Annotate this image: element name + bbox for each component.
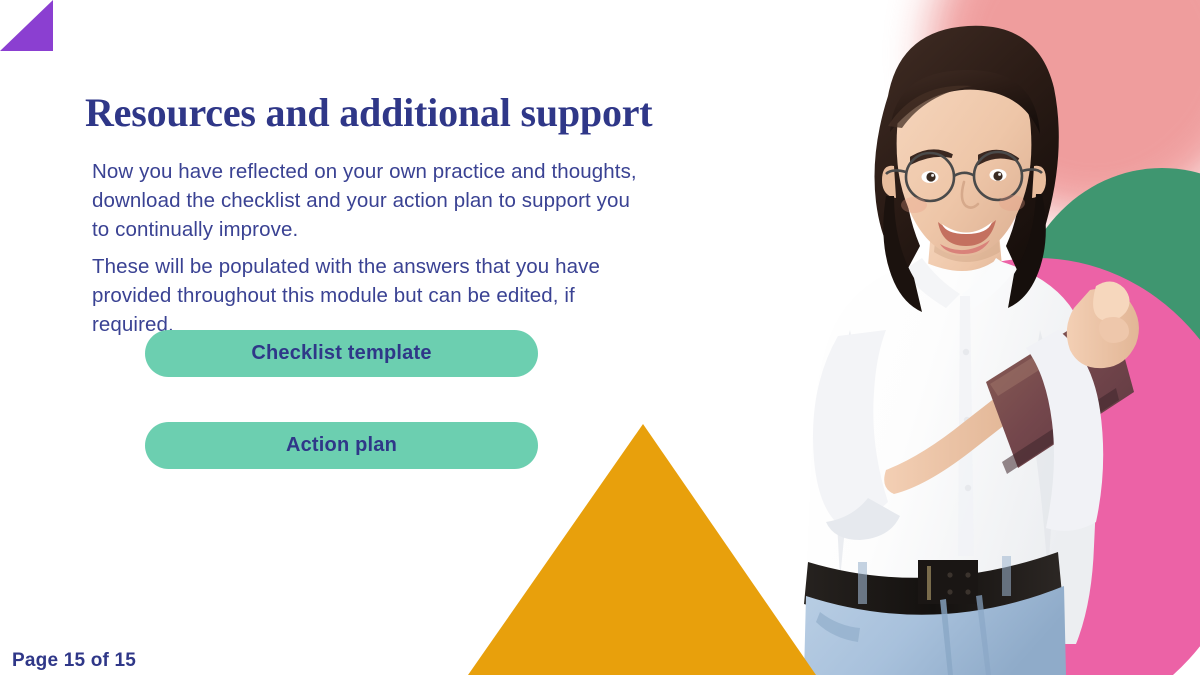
prefilled-note-paragraph: These will be populated with the answers… bbox=[92, 252, 652, 339]
presenter-photo-illustration bbox=[790, 0, 1200, 675]
page-indicator: Page 15 of 15 bbox=[12, 650, 136, 672]
checklist-template-button[interactable]: Checklist template bbox=[145, 330, 538, 377]
action-plan-button[interactable]: Action plan bbox=[145, 422, 538, 469]
presenter-photo bbox=[790, 0, 1200, 675]
page-title: Resources and additional support bbox=[85, 89, 652, 136]
slide-canvas: Resources and additional support Now you… bbox=[0, 0, 1200, 675]
intro-paragraph: Now you have reflected on your own pract… bbox=[92, 157, 652, 244]
purple-corner-triangle-decoration bbox=[0, 0, 53, 51]
